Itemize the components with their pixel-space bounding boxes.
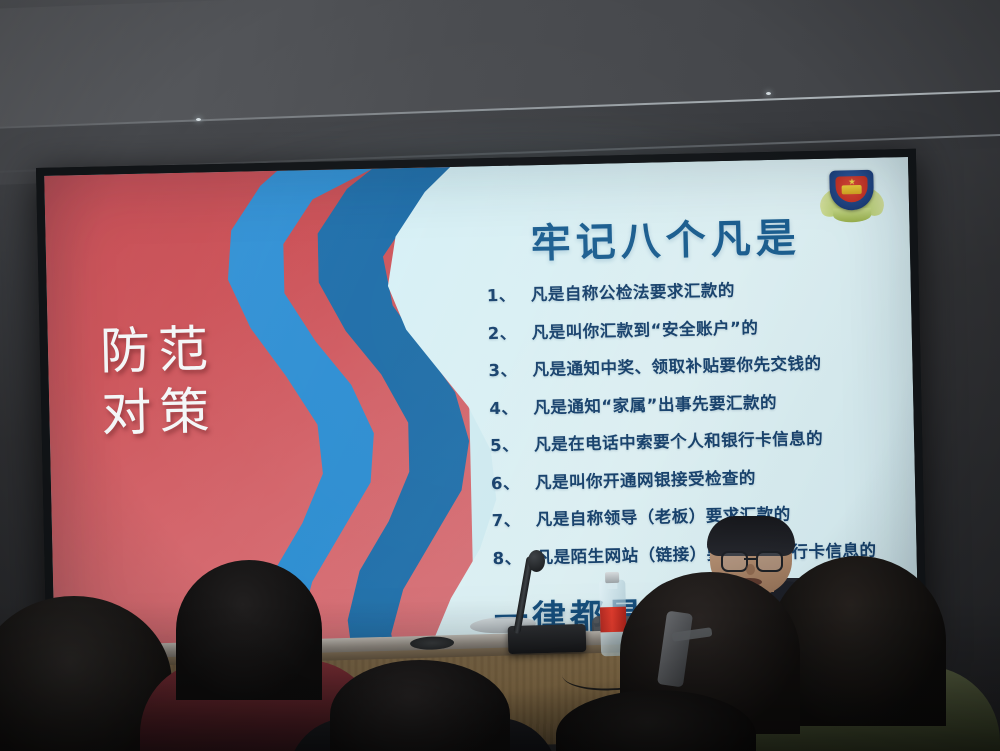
officer-hair — [707, 516, 795, 556]
glasses-lens-right — [756, 551, 783, 572]
glasses-bridge — [744, 558, 756, 560]
ceiling-light-dot-right — [766, 92, 771, 95]
audience-head — [176, 560, 322, 700]
microphone-head — [528, 550, 545, 572]
glasses-lens-left — [721, 551, 748, 572]
ceiling-light-dot-left — [196, 118, 201, 121]
bottle-label — [600, 607, 627, 633]
bottle-cap — [605, 572, 619, 583]
lecture-hall-photo: 防范 对策 牢记八个凡是 1、 凡是自称公检法要求汇款的 2、 — [0, 0, 1000, 751]
officer-nose — [746, 564, 755, 575]
